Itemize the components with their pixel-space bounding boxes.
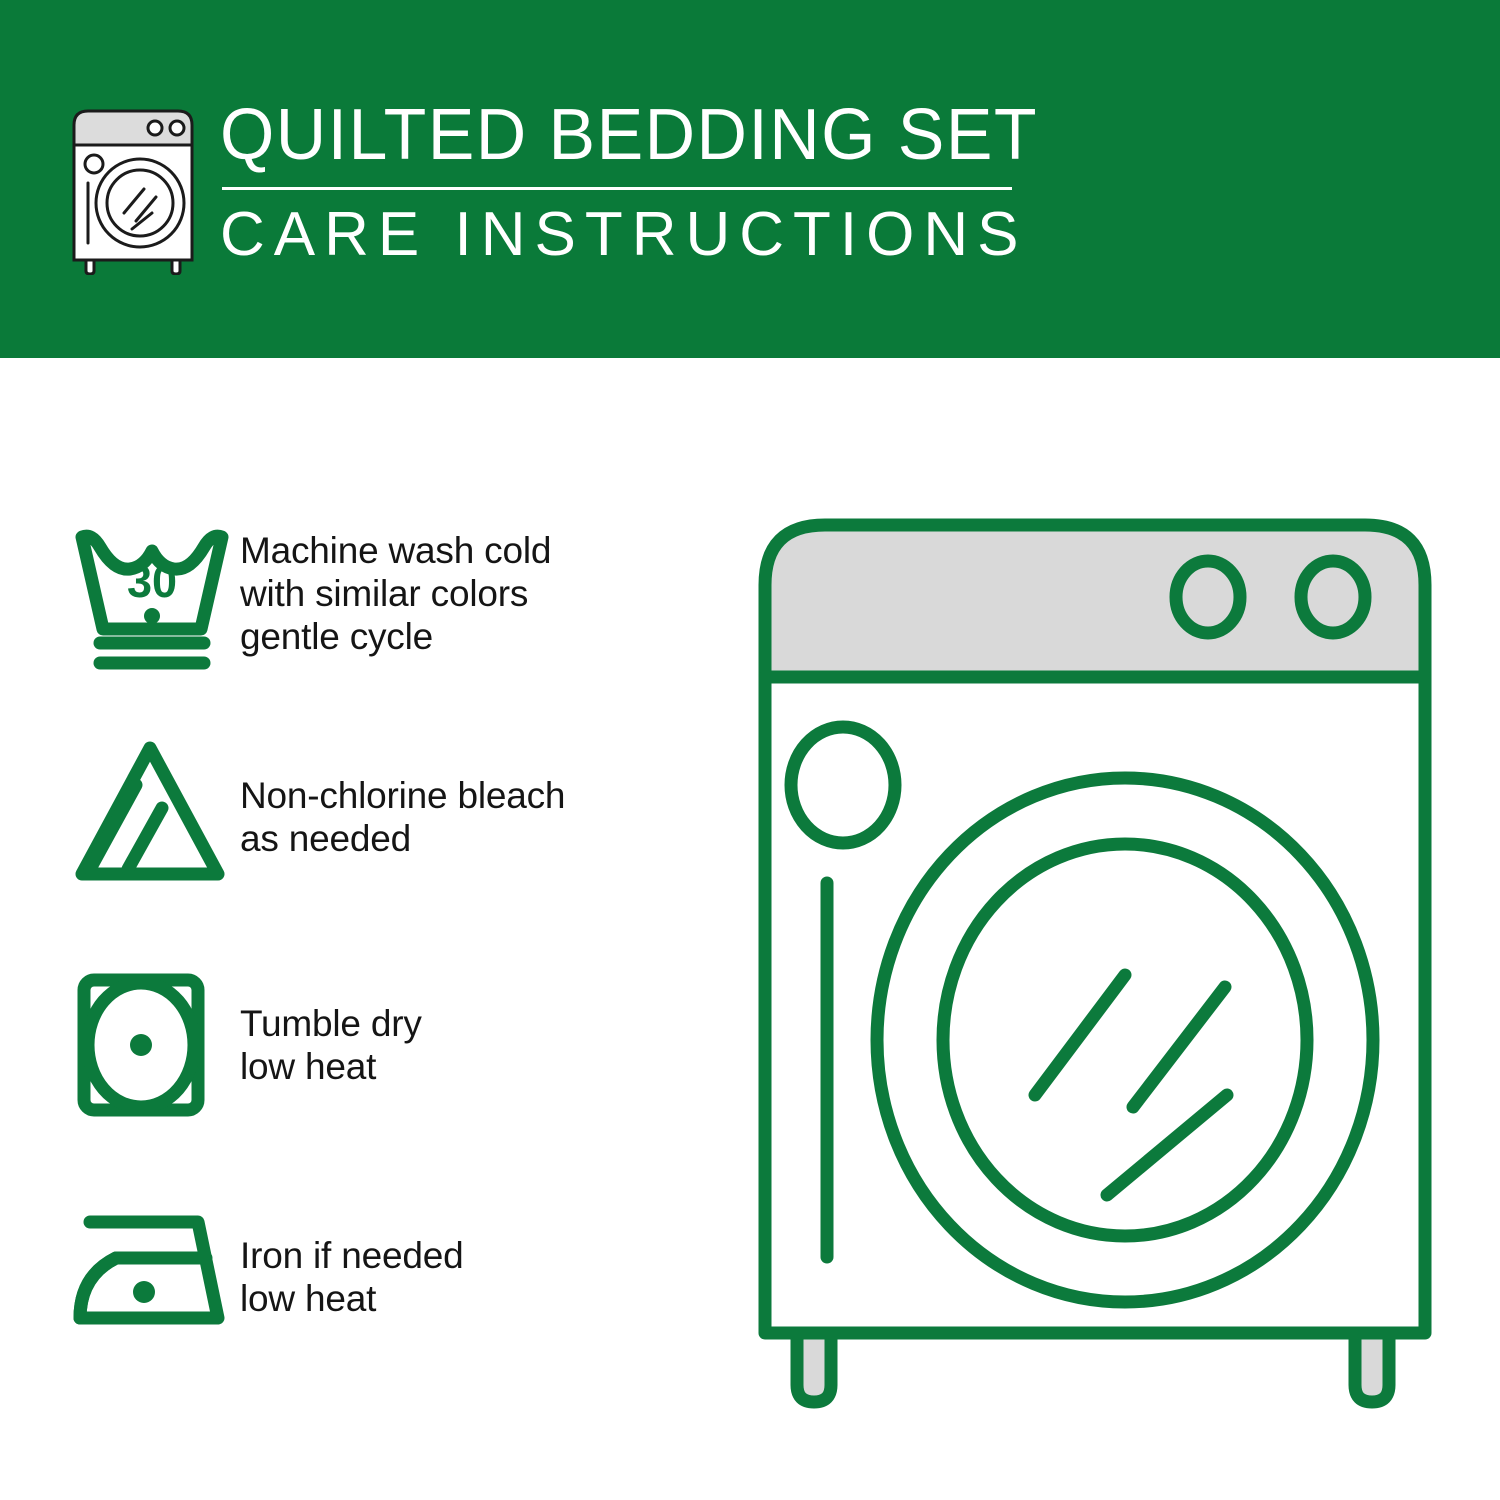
page-subtitle: CARE INSTRUCTIONS	[220, 200, 1020, 270]
care-row-bleach: Non-chlorine bleach as needed	[70, 736, 690, 886]
care-label-bleach: Non-chlorine bleach as needed	[240, 736, 565, 860]
care-line: Non-chlorine bleach	[240, 774, 565, 817]
care-instructions-list: 30 Machine wash cold with similar colors…	[0, 358, 700, 1500]
knob-left	[1176, 561, 1240, 633]
care-line: Tumble dry	[240, 1002, 422, 1045]
header-text-block: QUILTED BEDDING SET CARE INSTRUCTIONS	[220, 96, 1020, 270]
page-title: QUILTED BEDDING SET	[220, 96, 996, 174]
care-label-machine-wash: Machine wash cold with similar colors ge…	[240, 523, 551, 658]
care-row-tumble-dry: Tumble dry low heat	[70, 970, 690, 1120]
machine-wash-30-gentle-symbol: 30	[70, 523, 240, 673]
care-line: low heat	[240, 1045, 422, 1088]
wash-temperature-value: 30	[127, 556, 177, 607]
front-load-washing-machine-illustration	[735, 495, 1455, 1425]
detergent-indicator	[791, 727, 895, 843]
title-divider	[222, 187, 1012, 190]
care-row-iron: Iron if needed low heat	[70, 1196, 690, 1346]
care-label-iron: Iron if needed low heat	[240, 1196, 463, 1320]
washing-machine-icon	[62, 103, 212, 275]
care-row-machine-wash: 30 Machine wash cold with similar colors…	[70, 523, 690, 673]
header-banner: QUILTED BEDDING SET CARE INSTRUCTIONS	[0, 0, 1500, 358]
knob-right	[1301, 561, 1365, 633]
iron-low-heat-symbol	[70, 1196, 240, 1346]
care-line: Iron if needed	[240, 1234, 463, 1277]
care-line: Machine wash cold	[240, 529, 551, 572]
care-label-tumble-dry: Tumble dry low heat	[240, 970, 422, 1088]
care-line: gentle cycle	[240, 615, 551, 658]
care-line: with similar colors	[240, 572, 551, 615]
tumble-dry-low-symbol	[70, 970, 240, 1120]
non-chlorine-bleach-symbol	[70, 736, 240, 886]
care-line: as needed	[240, 817, 565, 860]
care-line: low heat	[240, 1277, 463, 1320]
